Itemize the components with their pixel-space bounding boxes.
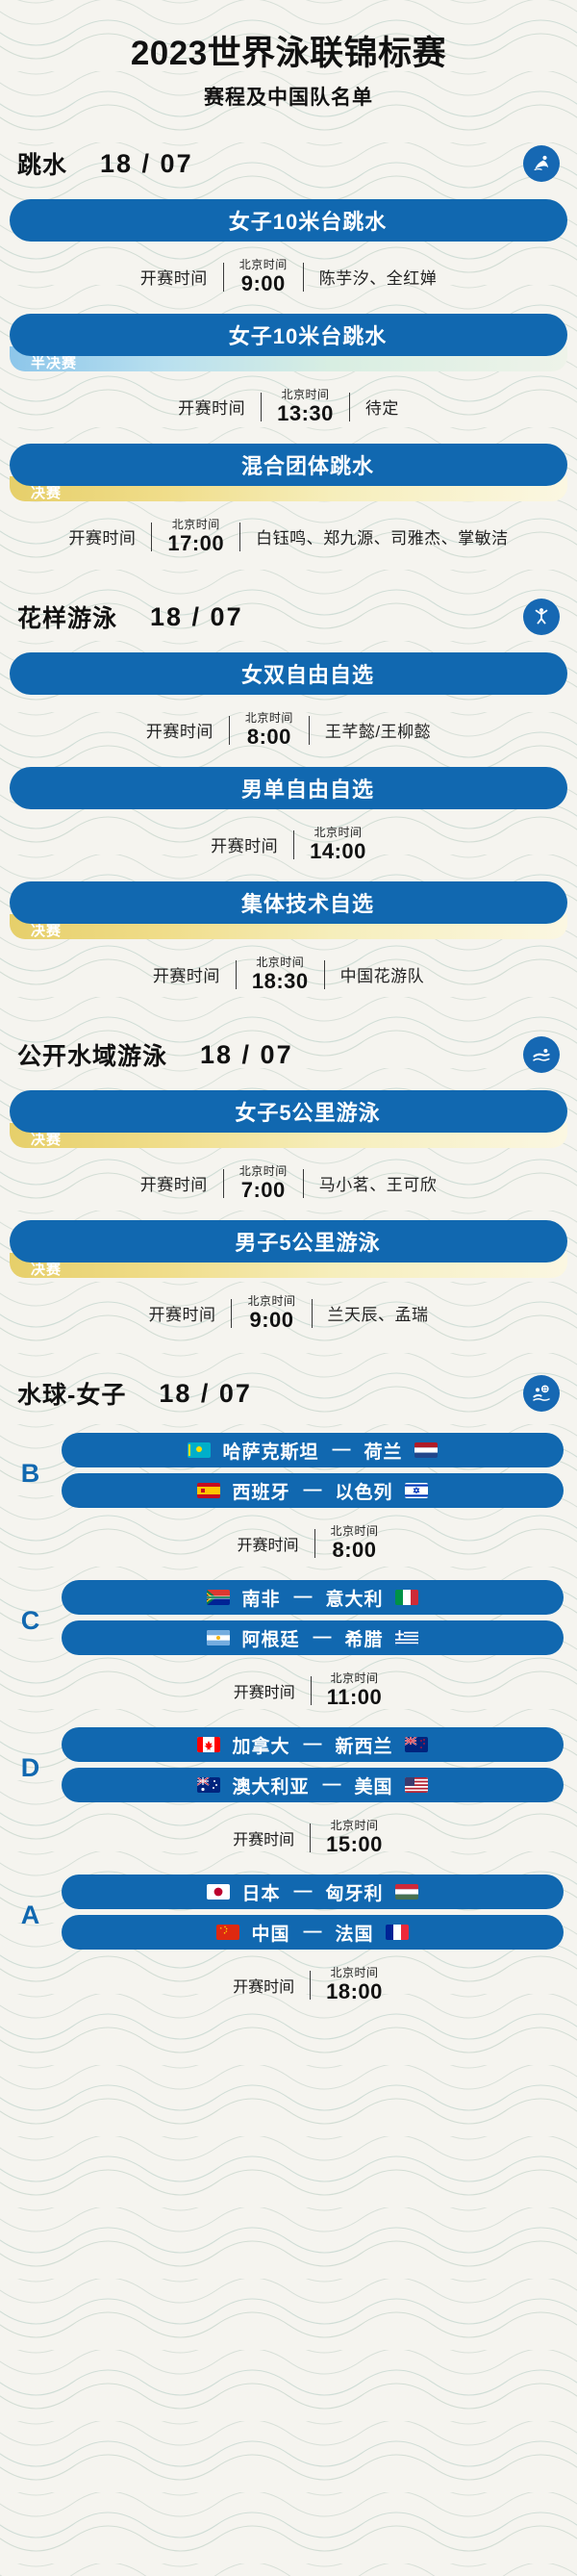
- start-time-label: 开赛时间: [153, 962, 220, 986]
- event-title: 女双自由自选: [241, 658, 374, 689]
- start-time-value: 18:00: [326, 1981, 383, 2002]
- beijing-time-label: 北京时间: [277, 389, 334, 400]
- detail-divider: [349, 393, 350, 421]
- event-pill[interactable]: 女双自由自选: [10, 652, 567, 695]
- sport-date: 18 / 07: [100, 149, 193, 179]
- detail-divider: [312, 1299, 313, 1328]
- sport-section: 花样游泳18 / 07女双自由自选开赛时间北京时间8:00王芊懿/王柳懿男单自由…: [0, 574, 577, 1011]
- start-time-block: 北京时间17:00: [167, 519, 224, 554]
- group-time-row: 开赛时间北京时间15:00: [0, 1808, 577, 1871]
- start-time-label: 开赛时间: [146, 718, 213, 742]
- artistic-swimming-icon: [523, 599, 560, 635]
- home-team-name: 阿根廷: [241, 1625, 299, 1651]
- match-row[interactable]: 加拿大—新西兰: [62, 1727, 564, 1762]
- event-detail-row: 开赛时间北京时间17:00白钰鸣、郑九源、司雅杰、掌敏洁: [0, 501, 577, 574]
- sport-section: 跳水18 / 07女子10米台跳水开赛时间北京时间9:00陈芋汐、全红婵女子10…: [0, 120, 577, 574]
- sport-section: 公开水域游泳18 / 07女子5公里游泳决赛开赛时间北京时间7:00马小茗、王可…: [0, 1011, 577, 1350]
- start-time-value: 17:00: [167, 533, 224, 554]
- home-team-name: 西班牙: [232, 1478, 289, 1504]
- group-letter: C: [0, 1606, 62, 1636]
- poster-header: 2023世界泳联锦标赛 赛程及中国队名单: [0, 0, 577, 120]
- page-subtitle: 赛程及中国队名单: [0, 82, 577, 111]
- event-block: 女子5公里游泳决赛开赛时间北京时间7:00马小茗、王可欣: [0, 1090, 577, 1220]
- versus-separator: —: [304, 1734, 322, 1755]
- group-row: B哈萨克斯坦—荷兰西班牙—以色列: [0, 1433, 577, 1514]
- start-time-label: 开赛时间: [233, 1974, 294, 1997]
- flag-kazakhstan-icon: [188, 1442, 211, 1458]
- sport-name: 花样游泳: [17, 599, 117, 634]
- event-detail-row: 开赛时间北京时间7:00马小茗、王可欣: [0, 1148, 577, 1220]
- event-block: 集体技术自选决赛开赛时间北京时间18:30中国花游队: [0, 881, 577, 1011]
- start-time-block: 北京时间13:30: [277, 389, 334, 424]
- home-team-name: 南非: [241, 1585, 280, 1611]
- flag-netherlands-icon: [414, 1442, 438, 1458]
- group-letter: B: [0, 1459, 62, 1489]
- detail-divider: [293, 830, 294, 859]
- page-title: 2023世界泳联锦标赛: [0, 35, 577, 73]
- event-pill[interactable]: 混合团体跳水: [10, 444, 567, 486]
- flag-spain-icon: [197, 1483, 220, 1498]
- athlete-names: 马小茗、王可欣: [319, 1171, 438, 1195]
- sport-date: 18 / 07: [150, 602, 243, 632]
- start-time-block: 北京时间18:30: [252, 956, 309, 992]
- event-pill[interactable]: 女子5公里游泳: [10, 1090, 567, 1133]
- group-time-row: 开赛时间北京时间18:00: [0, 1955, 577, 2018]
- waterpolo-group: B哈萨克斯坦—荷兰西班牙—以色列开赛时间北京时间8:00: [0, 1429, 577, 1576]
- match-row[interactable]: 阿根廷—希腊: [62, 1620, 564, 1655]
- versus-separator: —: [304, 1480, 322, 1501]
- home-team-name: 中国: [251, 1920, 289, 1946]
- flag-australia-icon: [197, 1777, 220, 1793]
- flag-argentina-icon: [207, 1630, 230, 1645]
- beijing-time-label: 北京时间: [326, 1967, 383, 1978]
- versus-separator: —: [323, 1774, 341, 1796]
- waterpolo-group: A日本—匈牙利中国—法国开赛时间北京时间18:00: [0, 1871, 577, 2018]
- away-team-name: 新西兰: [336, 1732, 393, 1758]
- away-team-name: 美国: [355, 1773, 393, 1798]
- start-time-block: 北京时间9:00: [239, 259, 288, 294]
- flag-japan-icon: [207, 1884, 230, 1900]
- start-time-label: 开赛时间: [178, 395, 245, 419]
- diving-icon: [523, 145, 560, 182]
- detail-divider: [151, 523, 152, 551]
- detail-divider: [311, 1676, 312, 1705]
- sport-name: 水球-女子: [17, 1376, 126, 1411]
- start-time-value: 18:30: [252, 971, 309, 992]
- event-pill[interactable]: 女子10米台跳水: [10, 199, 567, 242]
- home-team-name: 加拿大: [232, 1732, 289, 1758]
- waterpolo-section: 水球-女子18 / 07B哈萨克斯坦—荷兰西班牙—以色列开赛时间北京时间8:00…: [0, 1350, 577, 2018]
- group-matches: 南非—意大利阿根廷—希腊: [62, 1580, 564, 1661]
- sport-date: 18 / 07: [159, 1379, 252, 1409]
- event-title: 女子10米台跳水: [229, 319, 387, 350]
- athlete-names: 陈芋汐、全红婵: [319, 265, 438, 289]
- away-team-name: 匈牙利: [326, 1879, 384, 1905]
- detail-divider: [231, 1299, 232, 1328]
- start-time-value: 11:00: [327, 1687, 383, 1708]
- versus-separator: —: [294, 1881, 313, 1902]
- group-row: C南非—意大利阿根廷—希腊: [0, 1580, 577, 1661]
- beijing-time-label: 北京时间: [252, 956, 309, 968]
- start-time-block: 北京时间7:00: [239, 1165, 288, 1201]
- start-time-label: 开赛时间: [148, 1301, 215, 1325]
- start-time-label: 开赛时间: [233, 1826, 294, 1849]
- start-time-value: 9:00: [239, 273, 288, 294]
- detail-divider: [223, 1169, 224, 1198]
- sport-date: 18 / 07: [200, 1040, 293, 1070]
- flag-canada-icon: [197, 1737, 220, 1752]
- flag-china-icon: [216, 1925, 239, 1940]
- poster-root: 2023世界泳联锦标赛 赛程及中国队名单 跳水18 / 07女子10米台跳水开赛…: [0, 0, 577, 2576]
- flag-greece-icon: [395, 1630, 418, 1645]
- waterpolo-header: 水球-女子18 / 07: [0, 1350, 577, 1429]
- sport-section-header: 花样游泳18 / 07: [0, 574, 577, 652]
- beijing-time-label: 北京时间: [327, 1672, 383, 1684]
- beijing-time-label: 北京时间: [167, 519, 224, 530]
- detail-divider: [236, 960, 237, 989]
- event-block: 男单自由自选开赛时间北京时间14:00: [0, 767, 577, 881]
- event-title: 混合团体跳水: [241, 449, 374, 480]
- waterpolo-group: D加拿大—新西兰澳大利亚—美国开赛时间北京时间15:00: [0, 1723, 577, 1871]
- sport-name: 跳水: [17, 146, 67, 181]
- athlete-names: 兰天辰、孟瑞: [328, 1301, 429, 1325]
- sport-section-header: 公开水域游泳18 / 07: [0, 1011, 577, 1090]
- water-polo-icon: [523, 1375, 560, 1412]
- flag-newzealand-icon: [405, 1737, 428, 1752]
- beijing-time-label: 北京时间: [239, 259, 288, 270]
- detail-divider: [261, 393, 262, 421]
- event-block: 男子5公里游泳决赛开赛时间北京时间9:00兰天辰、孟瑞: [0, 1220, 577, 1350]
- sport-name: 公开水域游泳: [17, 1037, 167, 1072]
- waterpolo-group: C南非—意大利阿根廷—希腊开赛时间北京时间11:00: [0, 1576, 577, 1723]
- event-block: 女子10米台跳水半决赛开赛时间北京时间13:30待定: [0, 314, 577, 444]
- group-matches: 日本—匈牙利中国—法国: [62, 1875, 564, 1955]
- start-time-value: 8:00: [245, 727, 293, 748]
- flag-israel-icon: [405, 1483, 428, 1498]
- away-team-name: 希腊: [345, 1625, 384, 1651]
- away-team-name: 意大利: [326, 1585, 384, 1611]
- event-detail-row: 开赛时间北京时间8:00王芊懿/王柳懿: [0, 695, 577, 767]
- open-water-icon: [523, 1036, 560, 1073]
- flag-southafrica-icon: [207, 1590, 230, 1605]
- event-detail-row: 开赛时间北京时间13:30待定: [0, 371, 577, 444]
- detail-divider: [314, 1529, 315, 1558]
- start-time-value: 9:00: [247, 1310, 295, 1331]
- event-title: 男子5公里游泳: [235, 1226, 380, 1257]
- flag-hungary-icon: [395, 1884, 418, 1900]
- start-time-value: 14:00: [310, 841, 366, 862]
- match-row[interactable]: 日本—匈牙利: [62, 1875, 564, 1909]
- detail-divider: [310, 1971, 311, 2000]
- versus-separator: —: [304, 1922, 322, 1943]
- start-time-block: 北京时间8:00: [331, 1525, 379, 1561]
- away-team-name: 以色列: [336, 1478, 393, 1504]
- group-time-row: 开赛时间北京时间11:00: [0, 1661, 577, 1723]
- start-time-label: 开赛时间: [140, 1171, 208, 1195]
- detail-divider: [309, 716, 310, 745]
- event-title: 女子5公里游泳: [235, 1096, 380, 1127]
- detail-divider: [303, 263, 304, 292]
- start-time-label: 开赛时间: [140, 265, 208, 289]
- detail-divider: [239, 523, 240, 551]
- event-detail-row: 开赛时间北京时间18:30中国花游队: [0, 939, 577, 1011]
- event-pill[interactable]: 集体技术自选: [10, 881, 567, 924]
- event-block: 女双自由自选开赛时间北京时间8:00王芊懿/王柳懿: [0, 652, 577, 767]
- start-time-block: 北京时间14:00: [310, 827, 366, 862]
- start-time-value: 8:00: [331, 1540, 379, 1561]
- event-block: 女子10米台跳水开赛时间北京时间9:00陈芋汐、全红婵: [0, 199, 577, 314]
- home-team-name: 日本: [241, 1879, 280, 1905]
- event-detail-row: 开赛时间北京时间9:00陈芋汐、全红婵: [0, 242, 577, 314]
- start-time-value: 15:00: [326, 1834, 383, 1855]
- group-time-row: 开赛时间北京时间8:00: [0, 1514, 577, 1576]
- event-block: 混合团体跳水决赛开赛时间北京时间17:00白钰鸣、郑九源、司雅杰、掌敏洁: [0, 444, 577, 574]
- event-detail-row: 开赛时间北京时间9:00兰天辰、孟瑞: [0, 1278, 577, 1350]
- away-team-name: 法国: [336, 1920, 374, 1946]
- athlete-names: 待定: [365, 395, 399, 419]
- detail-divider: [310, 1824, 311, 1852]
- start-time-block: 北京时间11:00: [327, 1672, 383, 1708]
- group-matches: 哈萨克斯坦—荷兰西班牙—以色列: [62, 1433, 564, 1514]
- start-time-block: 北京时间8:00: [245, 712, 293, 748]
- beijing-time-label: 北京时间: [331, 1525, 379, 1537]
- beijing-time-label: 北京时间: [239, 1165, 288, 1177]
- home-team-name: 哈萨克斯坦: [222, 1438, 318, 1464]
- match-row[interactable]: 南非—意大利: [62, 1580, 564, 1615]
- match-row[interactable]: 中国—法国: [62, 1915, 564, 1950]
- start-time-value: 13:30: [277, 403, 334, 424]
- start-time-label: 开赛时间: [237, 1532, 298, 1555]
- beijing-time-label: 北京时间: [310, 827, 366, 838]
- group-matches: 加拿大—新西兰澳大利亚—美国: [62, 1727, 564, 1808]
- versus-separator: —: [314, 1627, 332, 1648]
- versus-separator: —: [333, 1440, 351, 1461]
- flag-france-icon: [386, 1925, 409, 1940]
- versus-separator: —: [294, 1587, 313, 1608]
- athlete-names: 王芊懿/王柳懿: [325, 718, 431, 742]
- flag-italy-icon: [395, 1590, 418, 1605]
- sections-container: 跳水18 / 07女子10米台跳水开赛时间北京时间9:00陈芋汐、全红婵女子10…: [0, 120, 577, 1350]
- event-pill[interactable]: 女子10米台跳水: [10, 314, 567, 356]
- detail-divider: [223, 263, 224, 292]
- flag-usa-icon: [405, 1777, 428, 1793]
- event-detail-row: 开赛时间北京时间14:00: [0, 809, 577, 881]
- group-letter: A: [0, 1900, 62, 1930]
- match-row[interactable]: 澳大利亚—美国: [62, 1768, 564, 1802]
- group-row: D加拿大—新西兰澳大利亚—美国: [0, 1727, 577, 1808]
- start-time-value: 7:00: [239, 1180, 288, 1201]
- away-team-name: 荷兰: [364, 1438, 403, 1464]
- home-team-name: 澳大利亚: [232, 1773, 309, 1798]
- event-title: 集体技术自选: [241, 887, 374, 918]
- start-time-label: 开赛时间: [68, 524, 136, 548]
- match-row[interactable]: 西班牙—以色列: [62, 1473, 564, 1508]
- start-time-block: 北京时间18:00: [326, 1967, 383, 2002]
- athlete-names: 中国花游队: [340, 962, 425, 986]
- beijing-time-label: 北京时间: [245, 712, 293, 724]
- event-pill[interactable]: 男单自由自选: [10, 767, 567, 809]
- detail-divider: [303, 1169, 304, 1198]
- event-title: 女子10米台跳水: [229, 205, 387, 236]
- group-row: A日本—匈牙利中国—法国: [0, 1875, 577, 1955]
- sport-section-header: 跳水18 / 07: [0, 120, 577, 199]
- event-pill[interactable]: 男子5公里游泳: [10, 1220, 567, 1262]
- match-row[interactable]: 哈萨克斯坦—荷兰: [62, 1433, 564, 1467]
- event-title: 男单自由自选: [241, 773, 374, 803]
- beijing-time-label: 北京时间: [247, 1295, 295, 1307]
- start-time-block: 北京时间15:00: [326, 1820, 383, 1855]
- beijing-time-label: 北京时间: [326, 1820, 383, 1831]
- start-time-label: 开赛时间: [234, 1679, 295, 1702]
- detail-divider: [229, 716, 230, 745]
- athlete-names: 白钰鸣、郑九源、司雅杰、掌敏洁: [256, 524, 509, 548]
- detail-divider: [324, 960, 325, 989]
- start-time-label: 开赛时间: [211, 832, 278, 856]
- group-letter: D: [0, 1753, 62, 1783]
- start-time-block: 北京时间9:00: [247, 1295, 295, 1331]
